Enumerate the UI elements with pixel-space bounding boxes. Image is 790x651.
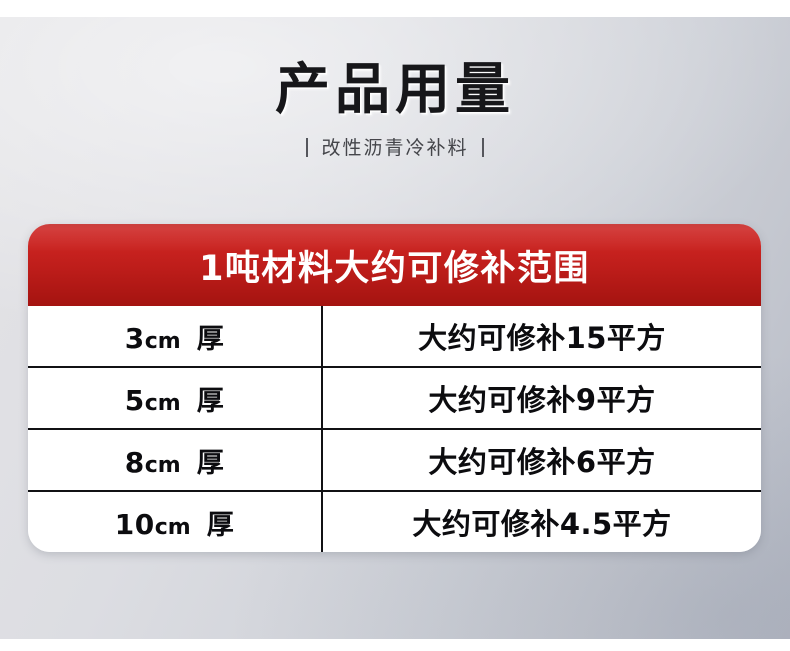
thickness-cell: 8cm厚 (28, 429, 322, 491)
thickness-value: 10 (115, 508, 155, 541)
thickness-word: 厚 (197, 386, 225, 417)
coverage-cell: 大约可修补15平方 (322, 306, 761, 367)
product-usage-poster: 产品用量 改性沥青冷补料 1吨材料大约可修补范围 3cm厚 大约可修补15平方 (0, 0, 790, 651)
coverage-cell: 大约可修补6平方 (322, 429, 761, 491)
thickness-word: 厚 (207, 510, 235, 541)
table-row: 10cm厚 大约可修补4.5平方 (28, 491, 761, 552)
thickness-value: 5 (125, 384, 145, 417)
thickness-value: 8 (125, 446, 145, 479)
thickness-value: 3 (125, 322, 145, 355)
thickness-unit: cm (145, 453, 181, 478)
thickness-word: 厚 (197, 448, 225, 479)
coverage-table-card: 1吨材料大约可修补范围 3cm厚 大约可修补15平方 5cm厚 大约可修补9平方 (28, 224, 761, 552)
thickness-cell: 5cm厚 (28, 367, 322, 429)
thickness-cell: 3cm厚 (28, 306, 322, 367)
coverage-cell: 大约可修补4.5平方 (322, 491, 761, 552)
coverage-table-header-label: 1吨材料大约可修补范围 (199, 240, 590, 291)
thickness-word: 厚 (197, 324, 225, 355)
coverage-table: 3cm厚 大约可修补15平方 5cm厚 大约可修补9平方 8cm厚 大约可修补6… (28, 306, 761, 552)
thickness-unit: cm (145, 329, 181, 354)
thickness-unit: cm (155, 515, 191, 540)
subtitle-text: 改性沥青冷补料 (321, 133, 468, 160)
page-title: 产品用量 (0, 62, 790, 117)
table-row: 3cm厚 大约可修补15平方 (28, 306, 761, 367)
subtitle-divider-left-icon (306, 138, 308, 157)
table-row: 5cm厚 大约可修补9平方 (28, 367, 761, 429)
poster-heading: 产品用量 改性沥青冷补料 (0, 62, 790, 160)
page-subtitle: 改性沥青冷补料 (0, 133, 790, 160)
thickness-cell: 10cm厚 (28, 491, 322, 552)
table-row: 8cm厚 大约可修补6平方 (28, 429, 761, 491)
thickness-unit: cm (145, 391, 181, 416)
coverage-table-header: 1吨材料大约可修补范围 (28, 224, 761, 306)
coverage-cell: 大约可修补9平方 (322, 367, 761, 429)
subtitle-divider-right-icon (482, 138, 484, 157)
